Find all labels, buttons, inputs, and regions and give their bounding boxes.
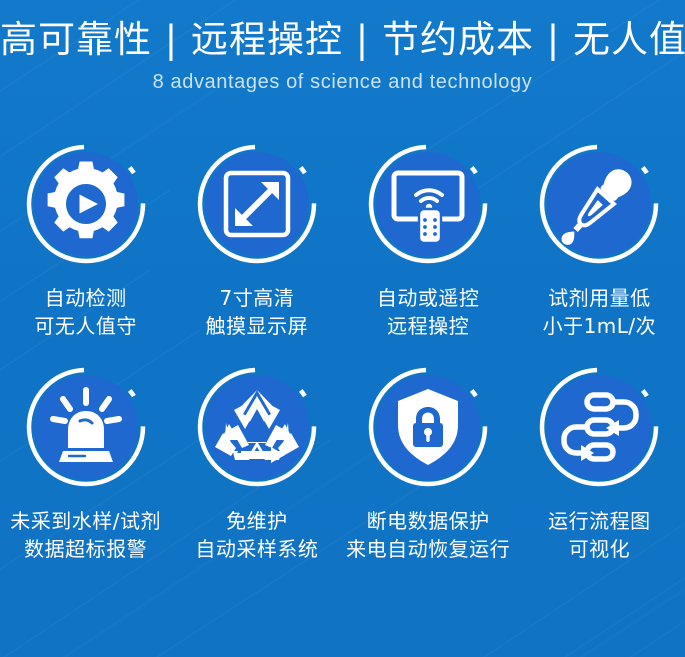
header: 高可靠性 | 远程操控 | 节约成本 | 无人值守 8 advantages o… xyxy=(0,0,685,94)
feature-item-7[interactable]: 断电数据保护 来电自动恢复运行 xyxy=(343,363,514,564)
feature-line2-8: 可视化 xyxy=(548,535,651,563)
feature-row-2: 未采到水样/试剂 数据超标报警 xyxy=(0,363,685,564)
feature-line1-5: 未采到水样/试剂 xyxy=(10,509,161,533)
poster-root: 高可靠性 | 远程操控 | 节约成本 | 无人值守 8 advantages o… xyxy=(0,0,685,657)
feature-caption-3: 自动或遥控 远程操控 xyxy=(377,284,480,341)
feature-item-4[interactable]: 试剂用量低 小于1mL/次 xyxy=(514,140,685,341)
feature-item-2[interactable]: 7寸高清 触摸显示屏 xyxy=(171,140,342,341)
feature-line2-5: 数据超标报警 xyxy=(10,535,161,563)
badge-3 xyxy=(364,140,492,268)
feature-caption-6: 免维护 自动采样系统 xyxy=(195,507,318,564)
feature-caption-7: 断电数据保护 来电自动恢复运行 xyxy=(346,507,510,564)
feature-caption-2: 7寸高清 触摸显示屏 xyxy=(206,284,309,341)
feature-line1-4: 试剂用量低 xyxy=(548,286,651,310)
feature-line2-1: 可无人值守 xyxy=(34,312,137,340)
flowchart-loop-icon xyxy=(535,363,663,491)
feature-line2-7: 来电自动恢复运行 xyxy=(346,535,510,563)
feature-item-6[interactable]: 免维护 自动采样系统 xyxy=(171,363,342,564)
feature-caption-1: 自动检测 可无人值守 xyxy=(34,284,137,341)
feature-caption-5: 未采到水样/试剂 数据超标报警 xyxy=(10,507,161,564)
badge-2 xyxy=(193,140,321,268)
badge-4 xyxy=(535,140,663,268)
feature-line2-2: 触摸显示屏 xyxy=(206,312,309,340)
feature-item-8[interactable]: 运行流程图 可视化 xyxy=(514,363,685,564)
feature-line1-1: 自动检测 xyxy=(45,286,127,310)
feature-line2-6: 自动采样系统 xyxy=(195,535,318,563)
feature-line1-3: 自动或遥控 xyxy=(377,286,480,310)
badge-6 xyxy=(193,363,321,491)
recycle-icon xyxy=(193,363,321,491)
feature-line2-4: 小于1mL/次 xyxy=(543,312,657,340)
feature-item-5[interactable]: 未采到水样/试剂 数据超标报警 xyxy=(0,363,171,564)
pipette-dropper-icon xyxy=(535,140,663,268)
shield-lock-icon xyxy=(364,363,492,491)
badge-5 xyxy=(22,363,150,491)
feature-item-3[interactable]: 自动或遥控 远程操控 xyxy=(343,140,514,341)
feature-line1-7: 断电数据保护 xyxy=(367,509,490,533)
tv-remote-wifi-icon xyxy=(364,140,492,268)
expand-arrows-icon xyxy=(193,140,321,268)
page-subtitle: 8 advantages of science and technology xyxy=(0,71,685,94)
feature-caption-4: 试剂用量低 小于1mL/次 xyxy=(543,284,657,341)
badge-1 xyxy=(22,140,150,268)
feature-caption-8: 运行流程图 可视化 xyxy=(548,507,651,564)
feature-line1-6: 免维护 xyxy=(226,509,288,533)
feature-line2-3: 远程操控 xyxy=(377,312,480,340)
feature-line1-8: 运行流程图 xyxy=(548,509,651,533)
badge-7 xyxy=(364,363,492,491)
gear-play-icon xyxy=(22,140,150,268)
feature-row-1: 自动检测 可无人值守 xyxy=(0,140,685,341)
feature-item-1[interactable]: 自动检测 可无人值守 xyxy=(0,140,171,341)
alarm-siren-icon xyxy=(22,363,150,491)
page-title: 高可靠性 | 远程操控 | 节约成本 | 无人值守 xyxy=(0,18,685,62)
feature-line1-2: 7寸高清 xyxy=(220,286,295,310)
feature-grid: 自动检测 可无人值守 xyxy=(0,140,685,564)
badge-8 xyxy=(535,363,663,491)
